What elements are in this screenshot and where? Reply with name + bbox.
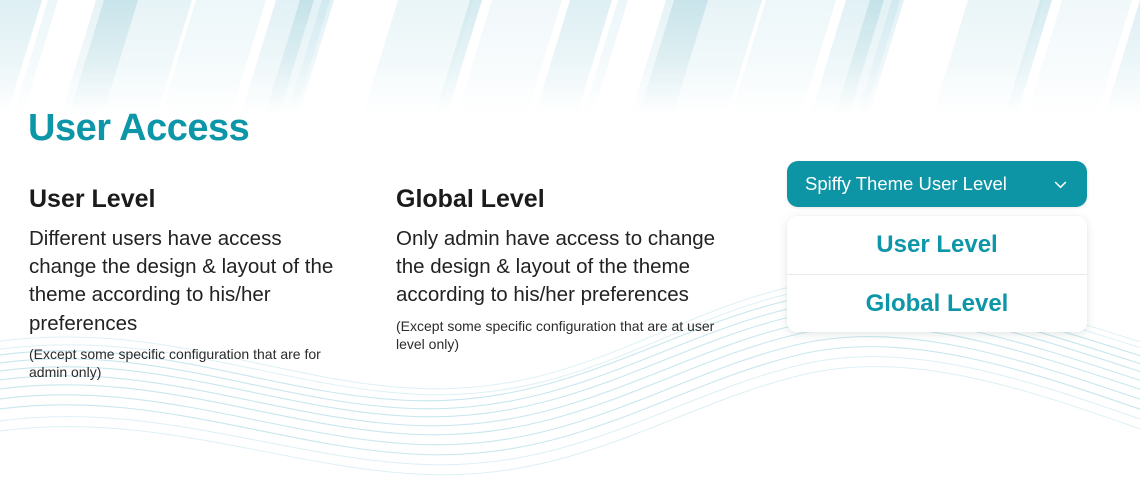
column-note-text: (Except some specific configuration that… bbox=[396, 317, 726, 354]
column-body-text: Different users have access change the d… bbox=[29, 225, 349, 338]
column-heading: Global Level bbox=[396, 185, 746, 214]
content-area: User Access User Level Different users h… bbox=[0, 0, 1140, 500]
column-body-text: Only admin have access to change the des… bbox=[396, 225, 716, 310]
dropdown-item-global-level[interactable]: Global Level bbox=[787, 274, 1087, 332]
column-global-level: Global Level Only admin have access to c… bbox=[396, 185, 746, 354]
slide-canvas: User Access User Level Different users h… bbox=[0, 0, 1140, 500]
user-level-dropdown: Spiffy Theme User Level User Level Globa… bbox=[787, 161, 1087, 332]
page-title: User Access bbox=[28, 108, 249, 150]
column-user-level: User Level Different users have access c… bbox=[29, 185, 379, 382]
dropdown-item-user-level[interactable]: User Level bbox=[787, 216, 1087, 274]
column-heading: User Level bbox=[29, 185, 379, 214]
dropdown-menu: User Level Global Level bbox=[787, 216, 1087, 332]
dropdown-toggle-button[interactable]: Spiffy Theme User Level bbox=[787, 161, 1087, 207]
dropdown-selected-label: Spiffy Theme User Level bbox=[805, 173, 1007, 195]
column-note-text: (Except some specific configuration that… bbox=[29, 345, 359, 382]
chevron-down-icon[interactable] bbox=[1052, 176, 1069, 193]
